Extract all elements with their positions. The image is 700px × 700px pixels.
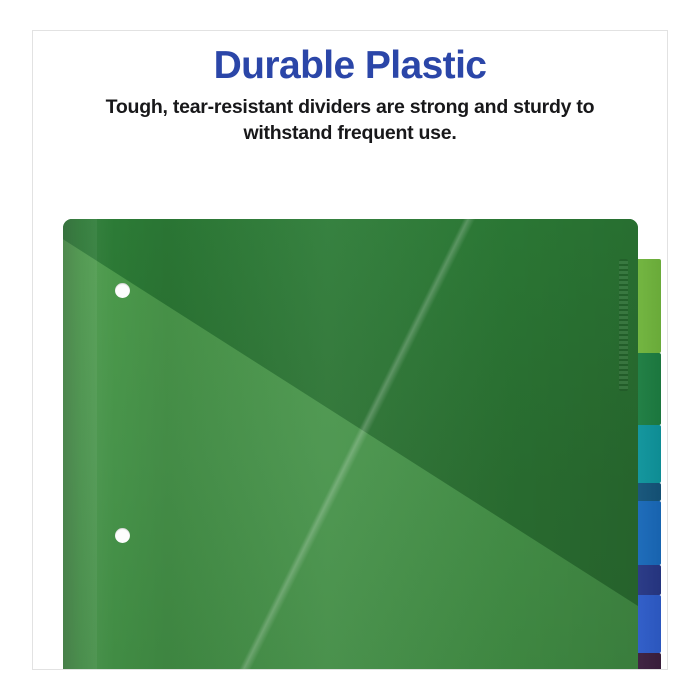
reinforcement-ridge-strip: [619, 259, 628, 391]
green-divider-sheet: [63, 219, 638, 670]
product-image-canvas: Durable Plastic Tough, tear-resistant di…: [0, 0, 700, 700]
punch-hole-top: [115, 283, 130, 298]
marketing-text-block: Durable Plastic Tough, tear-resistant di…: [33, 45, 667, 146]
page-subtitle: Tough, tear-resistant dividers are stron…: [68, 95, 633, 146]
punch-hole-bottom: [115, 528, 130, 543]
product-card: Durable Plastic Tough, tear-resistant di…: [32, 30, 668, 670]
page-title: Durable Plastic: [33, 45, 667, 86]
